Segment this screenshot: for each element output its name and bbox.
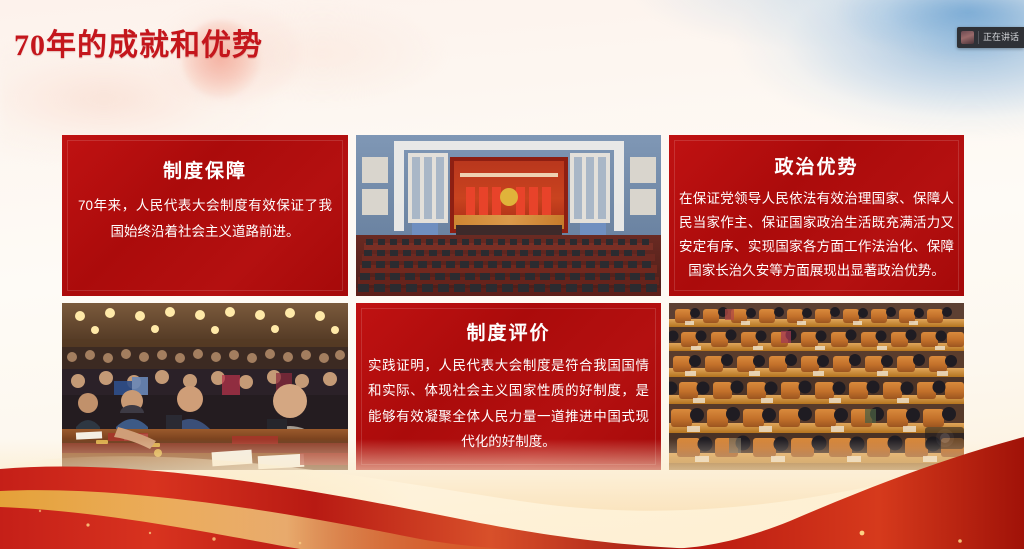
card-title: 制度评价 xyxy=(466,318,550,345)
card-system-guarantee[interactable]: 制度保障 70年来，人民代表大会制度有效保证了我国始终沿着社会主义道路前进。 xyxy=(62,135,348,296)
photo-great-hall-illustration xyxy=(356,135,661,296)
card-body-text: 实践证明，人民代表大会制度是符合我国国情和实际、体现社会主义国家性质的好制度，是… xyxy=(356,353,661,455)
card-title: 政治优势 xyxy=(774,152,858,179)
card-body-text: 70年来，人民代表大会制度有效保证了我国始终沿着社会主义道路前进。 xyxy=(62,193,348,246)
card-political-advantage[interactable]: 政治优势 在保证党领导人民依法有效治理国家、保障人民当家作主、保证国家政治生活既… xyxy=(669,135,964,296)
slide-canvas: 70年的成就和优势 正在讲话 制度保障 70年来，人民代表大会制度有效保证了我国… xyxy=(0,0,1024,549)
card-title: 制度保障 xyxy=(163,156,247,183)
content-grid: 制度保障 70年来，人民代表大会制度有效保证了我国始终沿着社会主义道路前进。 xyxy=(62,135,962,470)
speaker-avatar-icon xyxy=(961,31,974,44)
card-system-evaluation[interactable]: 制度评价 实践证明，人民代表大会制度是符合我国国情和实际、体现社会主义国家性质的… xyxy=(356,303,661,470)
card-body-text: 在保证党领导人民依法有效治理国家、保障人民当家作主、保证国家政治生活既充满活力又… xyxy=(669,187,964,283)
badge-divider xyxy=(978,31,979,44)
speaking-status-badge[interactable]: 正在讲话 xyxy=(957,27,1024,48)
speaking-status-label: 正在讲话 xyxy=(983,33,1019,42)
page-title: 70年的成就和优势 xyxy=(14,20,263,64)
photo-npc-session-hall[interactable] xyxy=(356,135,661,296)
